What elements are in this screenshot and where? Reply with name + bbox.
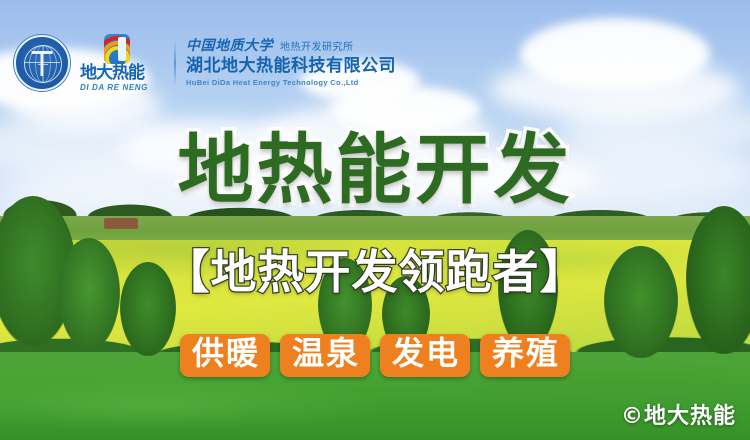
service-tag[interactable]: 温泉	[280, 334, 370, 377]
university-name: 中国地质大学	[186, 39, 273, 54]
company-name-cn: 湖北地大热能科技有限公司	[186, 57, 396, 76]
header-logo-bar: 地大热能 DI DA RE NENG 中国地质大学 地热开发研究所 湖北地大热能…	[14, 30, 396, 96]
logo-stripe-icon	[118, 37, 126, 61]
service-tag[interactable]: 养殖	[480, 334, 570, 377]
farm-building	[104, 218, 138, 229]
company-name-en: HuBei DiDa Heat Energy Technology Co.,Lt…	[186, 79, 396, 87]
hammer-mark-icon	[41, 51, 44, 76]
dida-brand-logo: 地大热能 DI DA RE NENG	[80, 34, 164, 92]
brand-name-en: DI DA RE NENG	[80, 83, 164, 92]
service-tag[interactable]: 供暖	[180, 334, 270, 377]
institute-name: 地热开发研究所	[280, 42, 354, 53]
organization-block: 中国地质大学 地热开发研究所 湖北地大热能科技有限公司 HuBei DiDa H…	[186, 39, 396, 87]
rainbow-square-icon	[104, 34, 130, 64]
header-divider	[174, 40, 176, 86]
banner-subtitle: 【地热开发领跑者】	[0, 249, 750, 295]
service-tag-list: 供暖 温泉 发电 养殖	[0, 334, 750, 377]
geothermal-banner: 地大热能 DI DA RE NENG 中国地质大学 地热开发研究所 湖北地大热能…	[0, 0, 750, 440]
brand-name-cn: 地大热能	[80, 65, 164, 82]
university-seal-icon	[14, 35, 70, 91]
banner-headline: 地热能开发	[0, 132, 750, 208]
copyright-watermark: ©地大热能	[621, 398, 736, 430]
service-tag[interactable]: 发电	[380, 334, 470, 377]
